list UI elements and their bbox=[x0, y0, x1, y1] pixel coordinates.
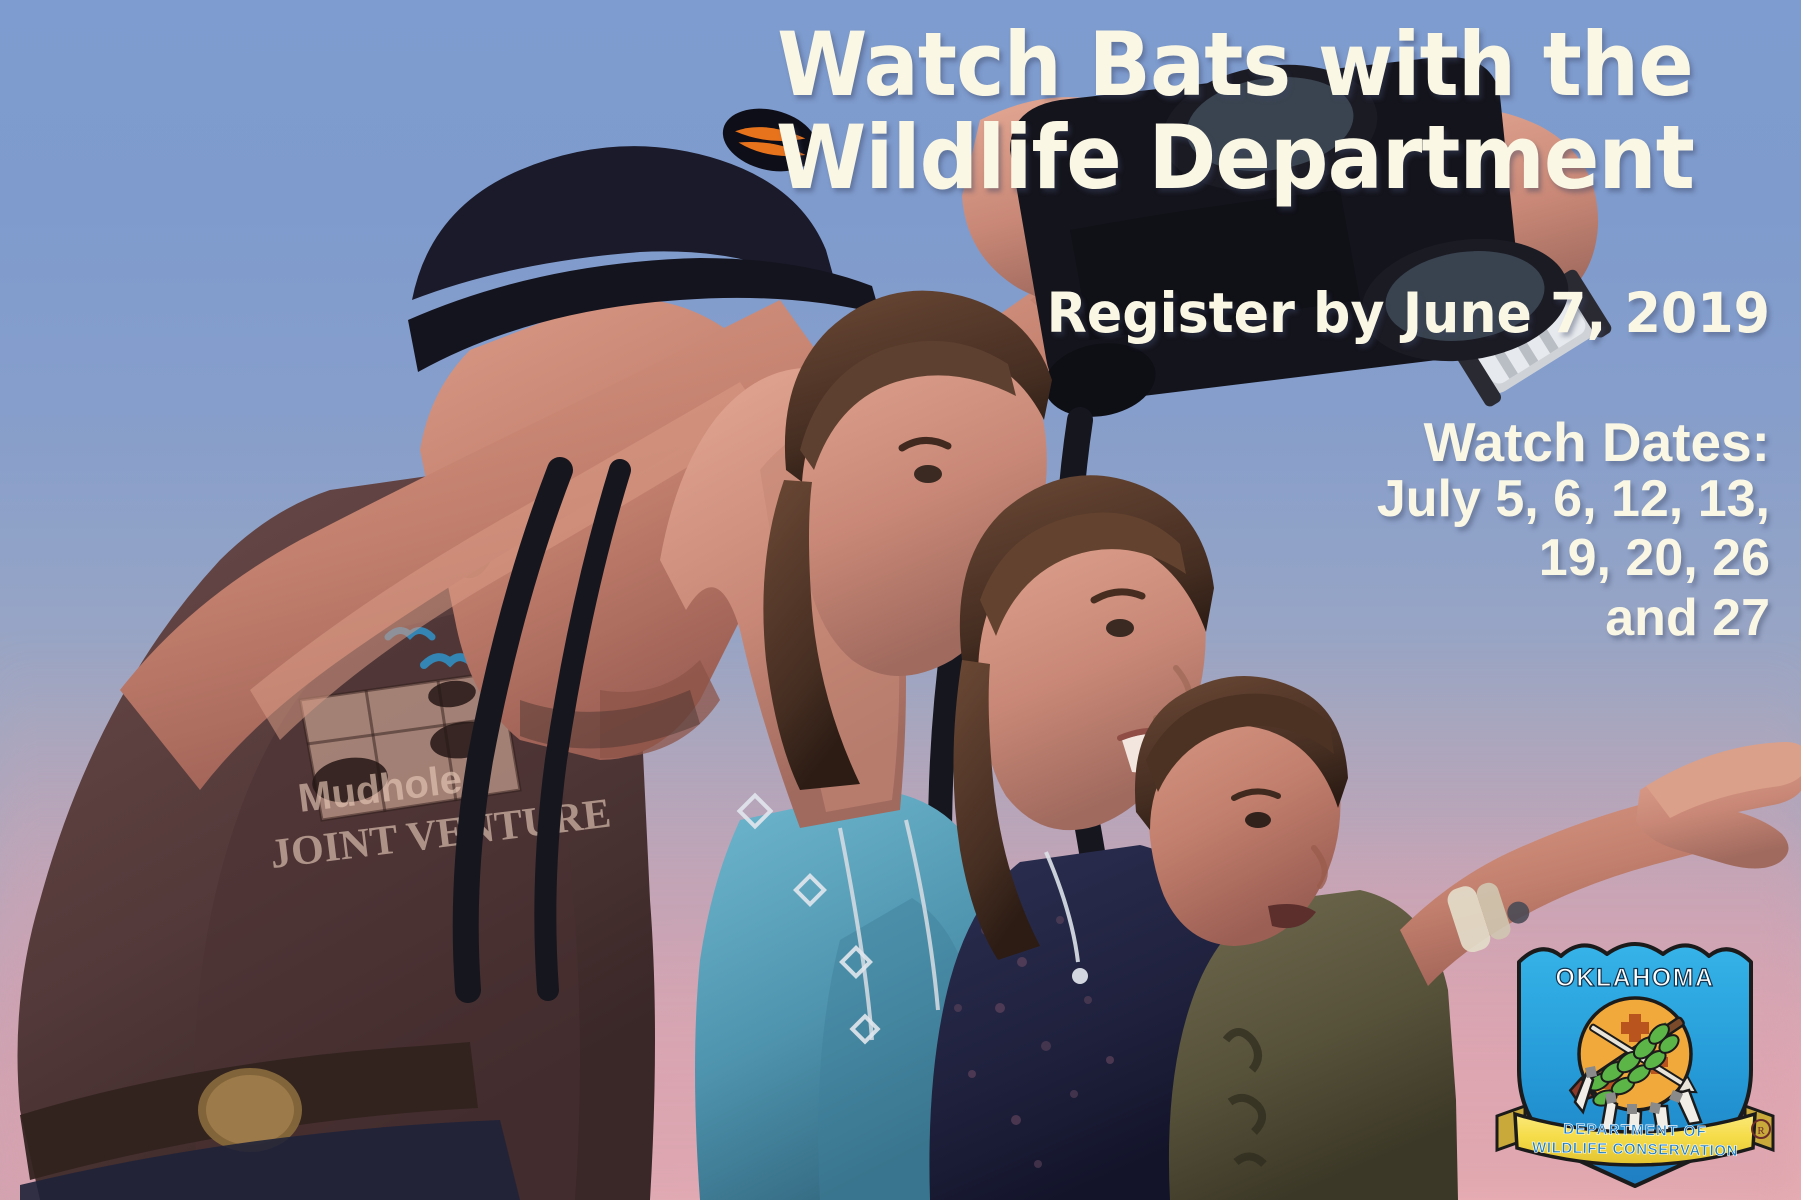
svg-text:R: R bbox=[1757, 1125, 1765, 1137]
poster: Mudhole JOINT VENTURE bbox=[0, 0, 1801, 1200]
logo-banner-line-2: WILDLIFE CONSERVATION bbox=[1532, 1139, 1738, 1160]
odwc-logo: OKLAHOMA bbox=[1495, 930, 1775, 1190]
logo-banner-line-1: DEPARTMENT OF bbox=[1563, 1121, 1707, 1141]
logo-state-text: OKLAHOMA bbox=[1555, 964, 1714, 992]
